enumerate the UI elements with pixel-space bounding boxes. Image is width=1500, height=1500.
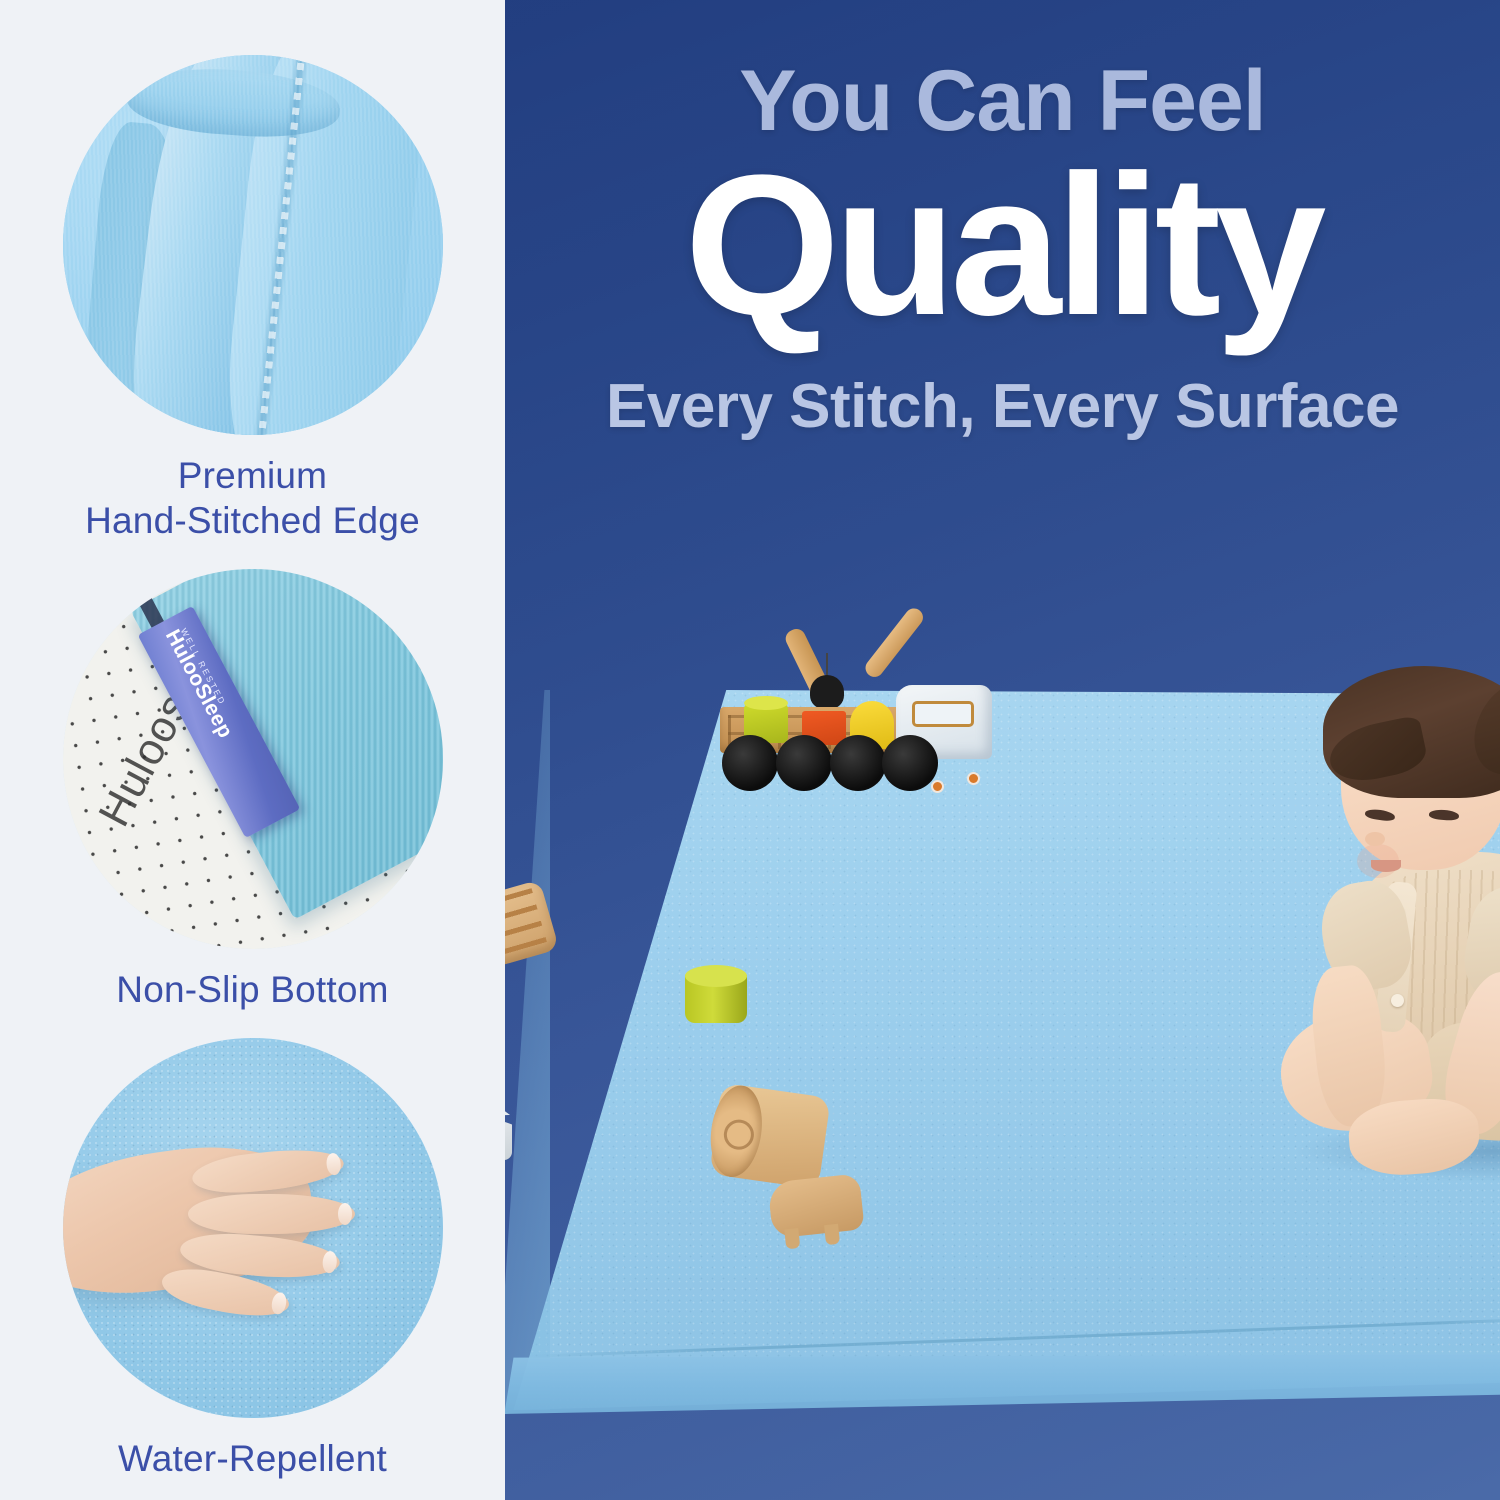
feature-caption-water-repellent: Water-Repellent	[118, 1436, 387, 1481]
baby-figure	[1253, 620, 1500, 1180]
toy-wooden-crane-truck	[710, 615, 1000, 805]
toy-wooden-roller-large	[709, 1083, 831, 1189]
play-mat-front-edge	[505, 1354, 1500, 1414]
headline-subtitle: Every Stitch, Every Surface	[539, 376, 1466, 438]
feature-card-non-slip-bottom: HuloosI HulooSleep WELL RESTED Non-Slip …	[0, 569, 505, 1012]
toy-green-cylinder-block	[685, 965, 747, 1023]
hand-on-fabric-image	[63, 1038, 443, 1418]
hero-panel: You Can Feel Quality Every Stitch, Every…	[505, 0, 1500, 1500]
product-feature-board: Premium Hand-Stitched Edge HuloosI Huloo…	[0, 0, 1500, 1500]
feature-caption-non-slip-bottom: Non-Slip Bottom	[116, 967, 388, 1012]
toy-white-triangle-block	[505, 1090, 512, 1160]
feature-caption-hand-stitched-edge: Premium Hand-Stitched Edge	[85, 453, 420, 543]
headline-line-1: You Can Feel	[539, 58, 1466, 144]
non-slip-dots-image: HuloosI HulooSleep WELL RESTED	[63, 569, 443, 949]
feature-card-water-repellent: Water-Repellent	[0, 1038, 505, 1481]
headline-block: You Can Feel Quality Every Stitch, Every…	[505, 58, 1500, 438]
play-mat-left-bevel	[505, 690, 550, 1410]
headline-line-2: Quality	[539, 150, 1466, 342]
feature-column: Premium Hand-Stitched Edge HuloosI Huloo…	[0, 0, 505, 1500]
feature-card-hand-stitched-edge: Premium Hand-Stitched Edge	[0, 55, 505, 543]
toy-wooden-dog	[767, 1173, 864, 1238]
fabric-fold-image	[63, 55, 443, 435]
